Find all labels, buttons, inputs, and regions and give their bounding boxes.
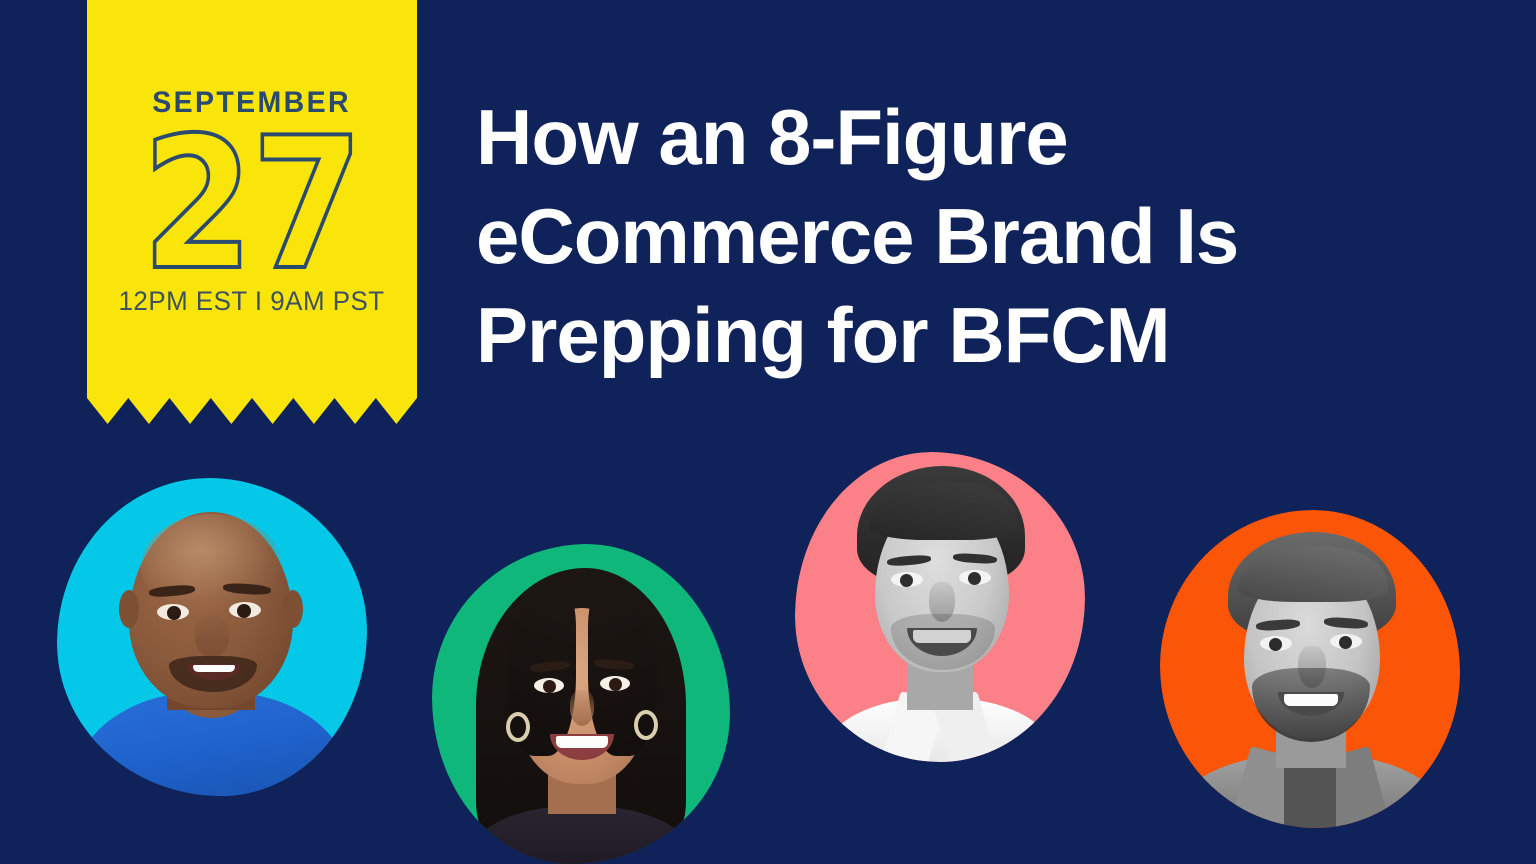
speaker-avatar-2	[432, 544, 730, 864]
speaker-avatar-4	[1160, 510, 1460, 828]
ribbon-time-label: 12PM EST I 9AM PST	[119, 288, 385, 315]
date-ribbon-content: SEPTEMBER 27 12PM EST I 9AM PST	[87, 0, 417, 398]
speaker-1-blob-clip	[57, 478, 367, 796]
ribbon-zigzag-edge-icon	[87, 394, 417, 426]
date-ribbon: SEPTEMBER 27 12PM EST I 9AM PST	[87, 0, 417, 423]
speaker-avatar-1	[57, 478, 367, 796]
speaker-2-blob-clip	[432, 544, 730, 864]
speaker-4-photo	[1160, 510, 1460, 828]
speaker-2-photo	[432, 544, 730, 864]
page-title-line-2: eCommerce Brand Is	[476, 187, 1396, 286]
speaker-1-photo	[57, 478, 367, 796]
webinar-promo-canvas: SEPTEMBER 27 12PM EST I 9AM PST How an 8…	[0, 0, 1536, 864]
speaker-3-blob-clip	[795, 452, 1085, 762]
page-title: How an 8-Figure eCommerce Brand Is Prepp…	[476, 88, 1396, 385]
ribbon-day-number: 27	[142, 113, 361, 295]
speaker-4-blob-clip	[1160, 510, 1460, 828]
page-title-line-1: How an 8-Figure	[476, 88, 1396, 187]
page-title-line-3: Prepping for BFCM	[476, 286, 1396, 385]
ribbon-day-wrapper: 27	[127, 124, 376, 284]
speaker-3-photo	[795, 452, 1085, 762]
speaker-avatar-3	[795, 452, 1085, 762]
speaker-portrait-row	[0, 440, 1536, 864]
